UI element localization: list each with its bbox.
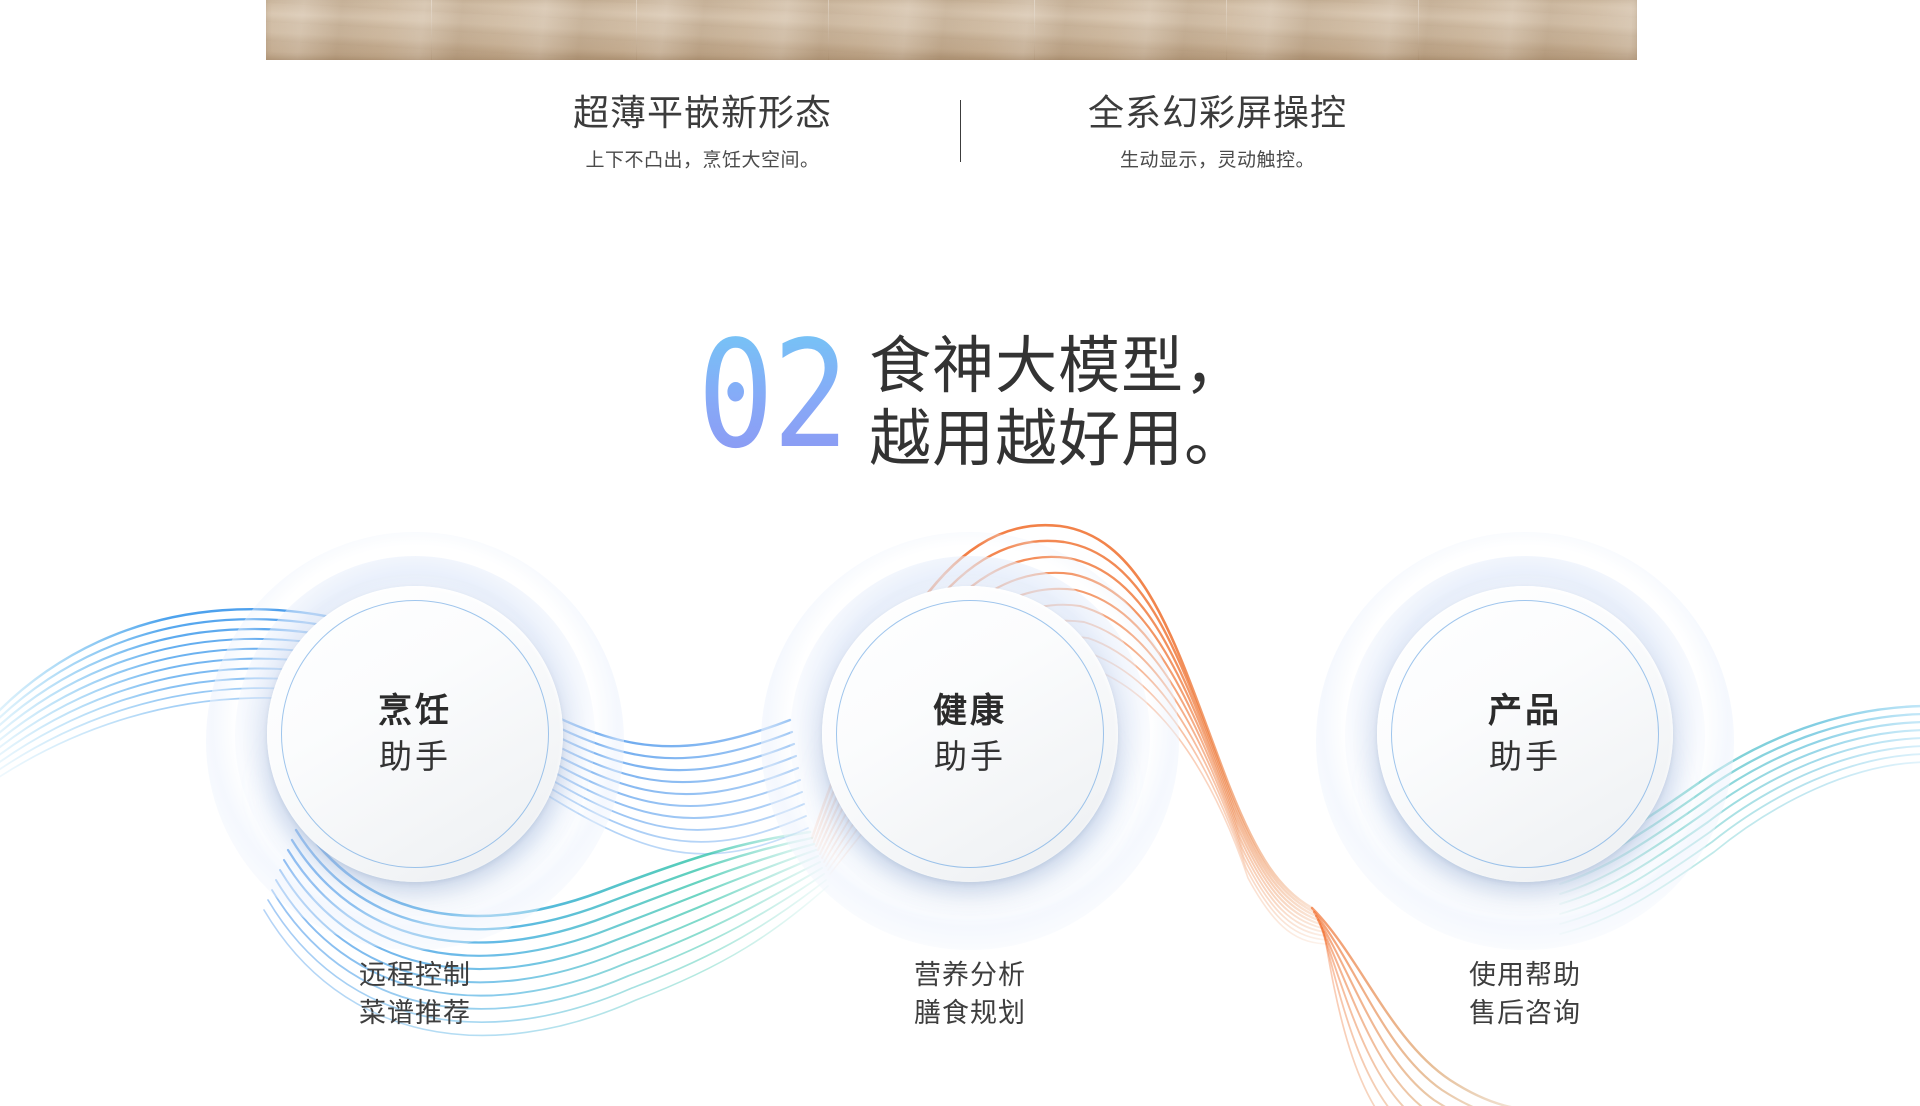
feature-highlights: 超薄平嵌新形态 上下不凸出，烹饪大空间。 全系幻彩屏操控 生动显示，灵动触控。 [0,92,1920,192]
caption-line-2: 菜谱推荐 [245,994,585,1032]
caption-line-1: 远程控制 [245,956,585,994]
caption-line-1: 使用帮助 [1355,956,1695,994]
assistant-caption: 营养分析 膳食规划 [800,956,1140,1033]
assistant-circle[interactable]: 健康 助手 [822,586,1118,882]
feature-divider [960,100,961,162]
feature-title: 全系幻彩屏操控 [1088,92,1347,133]
section-title-line-2: 越用越好用。 [869,403,1247,476]
assistant-role: 助手 [1489,737,1561,777]
feature-item-color-screen: 全系幻彩屏操控 生动显示，灵动触控。 [1008,92,1428,172]
caption-line-2: 售后咨询 [1355,994,1695,1032]
assistant-name: 健康 [933,691,1007,732]
assistant-circle[interactable]: 烹饪 助手 [267,586,563,882]
assistant-circle[interactable]: 产品 助手 [1377,586,1673,882]
assistants-band: 烹饪 助手 远程控制 菜谱推荐 健康 助手 营养分析 [0,520,1920,1106]
assistant-name: 烹饪 [378,691,452,732]
feature-item-thin-embedded: 超薄平嵌新形态 上下不凸出，烹饪大空间。 [493,92,913,172]
feature-subtitle: 上下不凸出，烹饪大空间。 [585,145,819,172]
caption-line-1: 营养分析 [800,956,1140,994]
assistant-nodes: 烹饪 助手 远程控制 菜谱推荐 健康 助手 营养分析 [0,520,1920,1106]
page-title: 食神大模型， 越用越好用。 [869,330,1247,476]
wood-floor-photo-strip [266,0,1637,60]
section-number: 02 [697,324,847,466]
feature-subtitle: 生动显示，灵动触控。 [1120,145,1315,172]
section-heading: 02 食神大模型， 越用越好用。 [0,330,1920,476]
section-title-line-1: 食神大模型， [869,330,1247,403]
assistant-caption: 远程控制 菜谱推荐 [245,956,585,1033]
assistant-caption: 使用帮助 售后咨询 [1355,956,1695,1033]
assistant-role: 助手 [934,737,1006,777]
feature-title: 超薄平嵌新形态 [573,92,832,133]
assistant-role: 助手 [379,737,451,777]
caption-line-2: 膳食规划 [800,994,1140,1032]
product-detail-page: 超薄平嵌新形态 上下不凸出，烹饪大空间。 全系幻彩屏操控 生动显示，灵动触控。 … [0,0,1920,1106]
assistant-name: 产品 [1488,691,1562,732]
